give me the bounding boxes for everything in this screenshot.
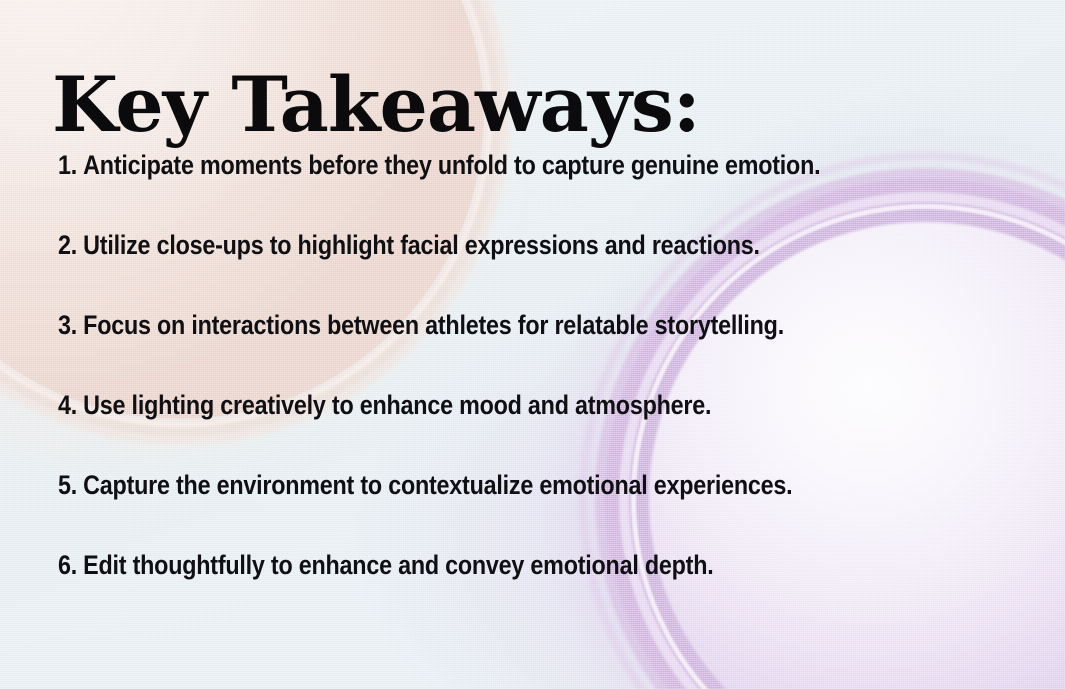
list-item: 3. Focus on interactions between athlete… xyxy=(58,312,909,392)
page-title: Key Takeaways: xyxy=(52,67,700,143)
list-item: 6. Edit thoughtfully to enhance and conv… xyxy=(58,552,909,632)
list-item-text: Capture the environment to contextualize… xyxy=(83,472,792,499)
list-item-number: 3. xyxy=(58,312,77,339)
key-takeaways-slide: Key Takeaways: 1. Anticipate moments bef… xyxy=(0,0,1065,689)
list-item-number: 5. xyxy=(58,472,77,499)
takeaways-list: 1. Anticipate moments before they unfold… xyxy=(58,152,1025,632)
list-item-number: 1. xyxy=(58,152,77,179)
list-item: 2. Utilize close-ups to highlight facial… xyxy=(58,232,909,312)
list-item-number: 2. xyxy=(58,232,77,259)
list-item: 4. Use lighting creatively to enhance mo… xyxy=(58,392,909,472)
list-item-text: Edit thoughtfully to enhance and convey … xyxy=(83,552,713,579)
list-item-number: 6. xyxy=(58,552,77,579)
list-item-number: 4. xyxy=(58,392,77,419)
list-item-text: Anticipate moments before they unfold to… xyxy=(83,152,820,179)
list-item: 5. Capture the environment to contextual… xyxy=(58,472,909,552)
list-item-text: Use lighting creatively to enhance mood … xyxy=(83,392,711,419)
list-item: 1. Anticipate moments before they unfold… xyxy=(58,152,909,232)
list-item-text: Focus on interactions between athletes f… xyxy=(83,312,784,339)
list-item-text: Utilize close-ups to highlight facial ex… xyxy=(83,232,760,259)
slide-content: Key Takeaways: 1. Anticipate moments bef… xyxy=(0,0,1065,689)
